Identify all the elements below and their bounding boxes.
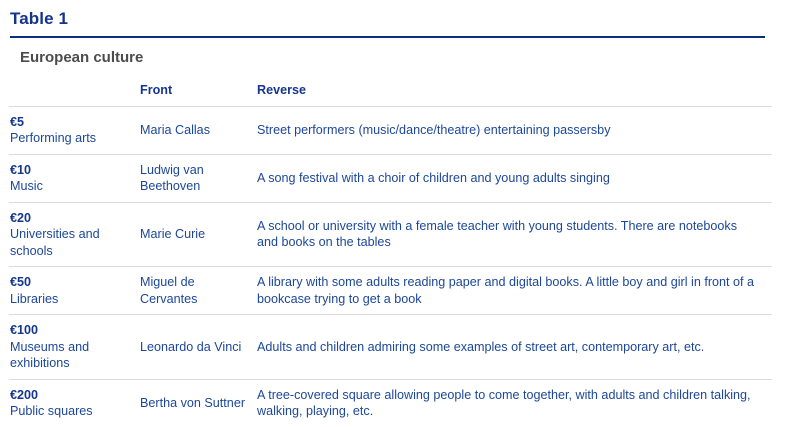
table-row: €100 Museums and exhibitions Leonardo da…	[9, 315, 772, 380]
column-header-reverse: Reverse	[257, 82, 772, 106]
denomination-amount: €50	[10, 274, 132, 291]
table-header-row: Front Reverse	[9, 82, 772, 106]
table-row: €20 Universities and schools Marie Curie…	[9, 202, 772, 267]
denomination-theme: Public squares	[10, 403, 132, 420]
cell-front: Maria Callas	[140, 106, 257, 154]
denomination-theme: Performing arts	[10, 130, 132, 147]
cell-front: Miguel de Cervantes	[140, 267, 257, 315]
cell-reverse: A tree-covered square allowing people to…	[257, 379, 772, 427]
front-design-name: Ludwig van Beethoven	[140, 162, 249, 195]
table-row: €10 Music Ludwig van Beethoven A song fe…	[9, 154, 772, 202]
reverse-design-description: A library with some adults reading paper…	[257, 274, 764, 307]
page-title: Table 1	[10, 8, 765, 29]
front-design-name: Bertha von Suttner	[140, 395, 249, 412]
cell-denomination: €200 Public squares	[9, 379, 140, 427]
cell-denomination: €20 Universities and schools	[9, 202, 140, 267]
table-row: €50 Libraries Miguel de Cervantes A libr…	[9, 267, 772, 315]
cell-denomination: €5 Performing arts	[9, 106, 140, 154]
denomination-amount: €20	[10, 210, 132, 227]
denomination-amount: €10	[10, 162, 132, 179]
denomination-theme: Libraries	[10, 291, 132, 308]
cell-front: Marie Curie	[140, 202, 257, 267]
cell-front: Bertha von Suttner	[140, 379, 257, 427]
denomination-amount: €5	[10, 114, 132, 131]
table-header: Front Reverse	[9, 82, 772, 106]
figure-header: Table 1 European culture	[0, 0, 789, 68]
column-header-denomination	[9, 82, 140, 106]
european-culture-table: Front Reverse €5 Performing arts Maria C…	[9, 82, 772, 427]
title-underline-divider	[10, 36, 765, 38]
denomination-amount: €200	[10, 387, 132, 404]
table-container: Front Reverse €5 Performing arts Maria C…	[0, 82, 789, 427]
denomination-theme: Museums and exhibitions	[10, 339, 132, 372]
reverse-design-description: A song festival with a choir of children…	[257, 170, 764, 187]
reverse-design-description: A school or university with a female tea…	[257, 218, 764, 251]
front-design-name: Marie Curie	[140, 226, 249, 243]
denomination-theme: Music	[10, 178, 132, 195]
cell-front: Ludwig van Beethoven	[140, 154, 257, 202]
reverse-design-description: Street performers (music/dance/theatre) …	[257, 122, 764, 139]
table-figure-page: Table 1 European culture Front Reverse	[0, 0, 789, 404]
reverse-design-description: Adults and children admiring some exampl…	[257, 339, 764, 356]
cell-reverse: A school or university with a female tea…	[257, 202, 772, 267]
cell-reverse: A library with some adults reading paper…	[257, 267, 772, 315]
cell-denomination: €100 Museums and exhibitions	[9, 315, 140, 380]
front-design-name: Miguel de Cervantes	[140, 274, 249, 307]
table-caption: European culture	[10, 48, 765, 68]
table-body: €5 Performing arts Maria Callas Street p…	[9, 106, 772, 427]
cell-front: Leonardo da Vinci	[140, 315, 257, 380]
table-row: €200 Public squares Bertha von Suttner A…	[9, 379, 772, 427]
cell-reverse: Adults and children admiring some exampl…	[257, 315, 772, 380]
denomination-amount: €100	[10, 322, 132, 339]
reverse-design-description: A tree-covered square allowing people to…	[257, 387, 764, 420]
denomination-theme: Universities and schools	[10, 226, 132, 259]
cell-reverse: Street performers (music/dance/theatre) …	[257, 106, 772, 154]
front-design-name: Leonardo da Vinci	[140, 339, 249, 356]
table-row: €5 Performing arts Maria Callas Street p…	[9, 106, 772, 154]
front-design-name: Maria Callas	[140, 122, 249, 139]
column-header-front: Front	[140, 82, 257, 106]
cell-denomination: €50 Libraries	[9, 267, 140, 315]
cell-denomination: €10 Music	[9, 154, 140, 202]
cell-reverse: A song festival with a choir of children…	[257, 154, 772, 202]
